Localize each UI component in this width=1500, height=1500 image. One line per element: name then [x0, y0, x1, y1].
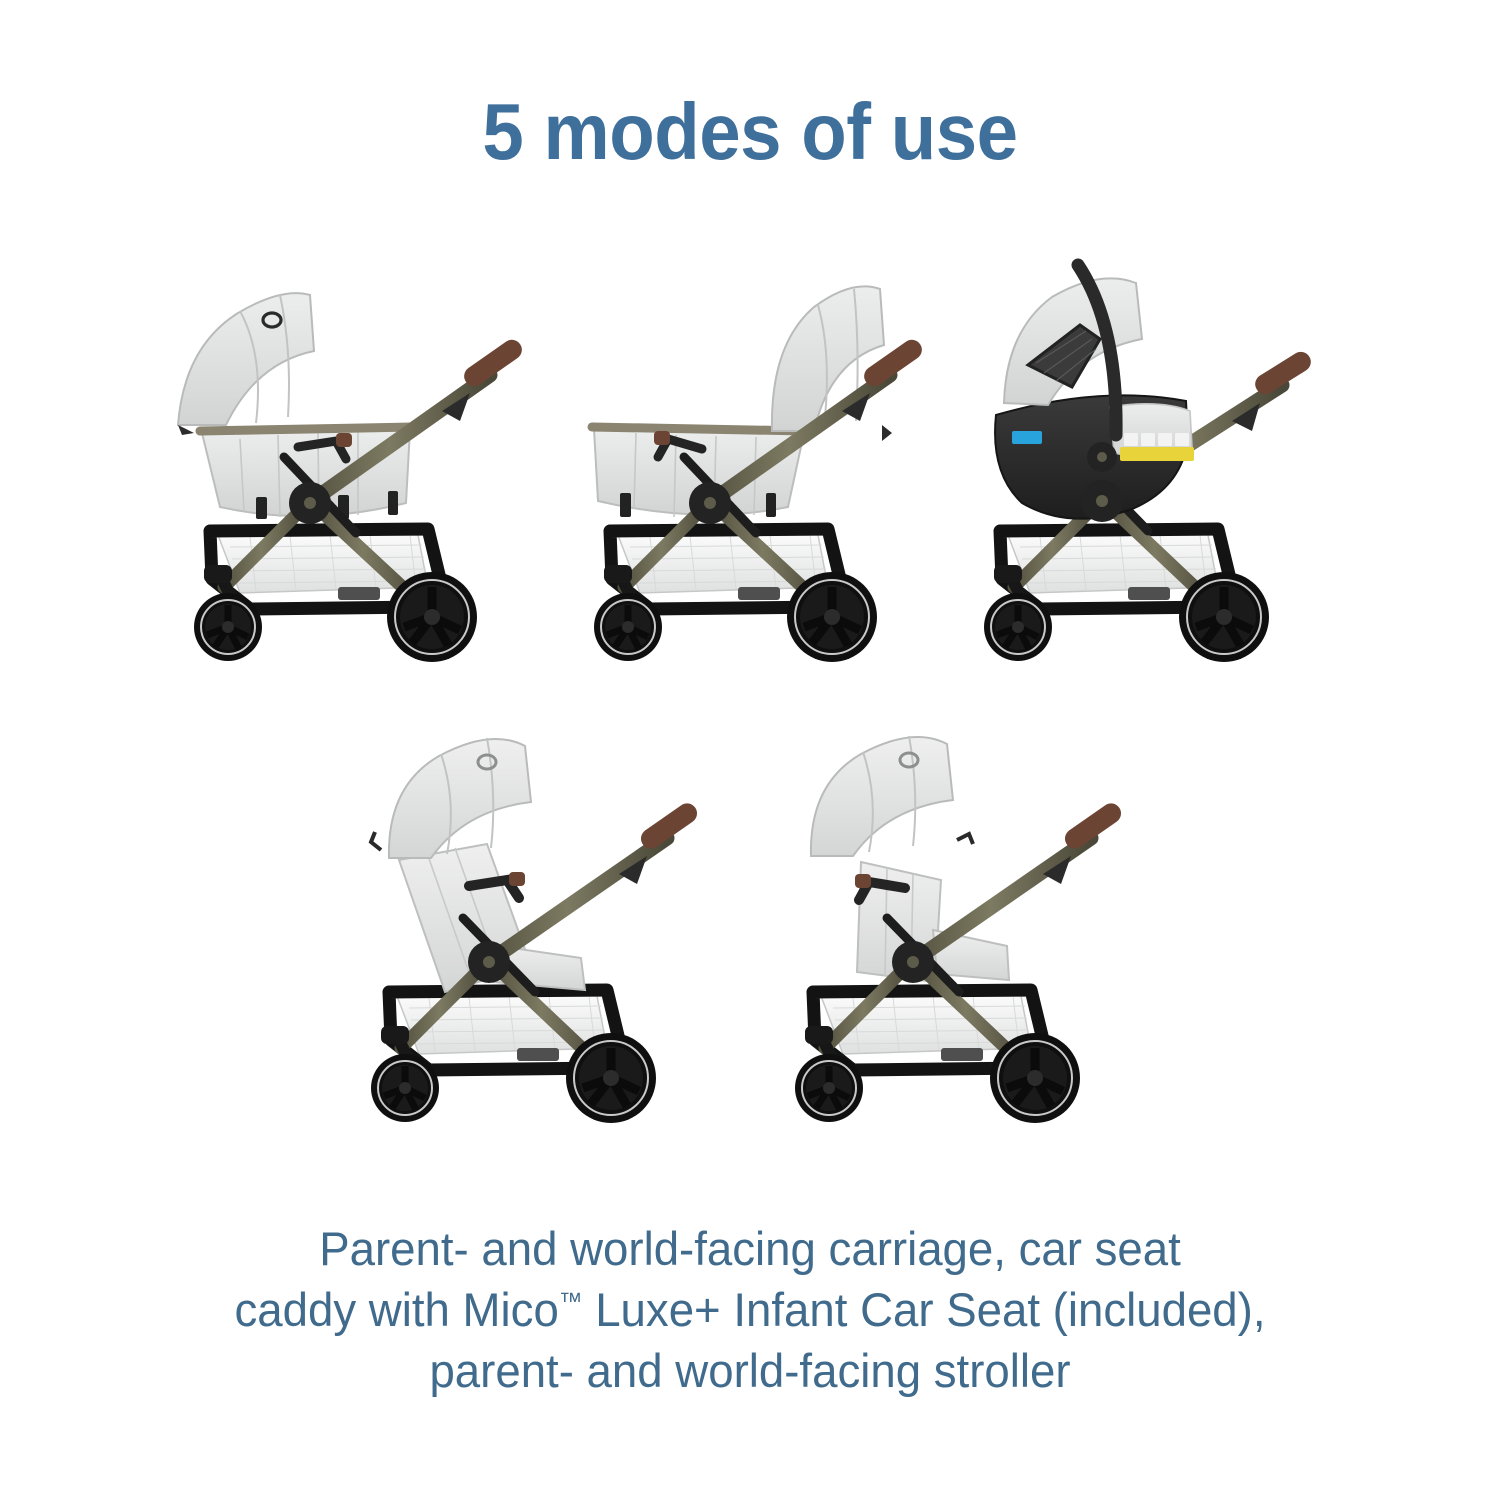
hood-clip: [178, 425, 194, 435]
canopy-strap: [371, 832, 381, 850]
product-image-world-facing-carriage: [560, 235, 960, 680]
basket-tag: [338, 587, 380, 600]
stroller-canopy: [389, 739, 531, 858]
hub-logo-icon: [1096, 495, 1108, 507]
rear-wheel: [566, 1033, 656, 1123]
caption-line-2: caddy with Mico™ Luxe+ Infant Car Seat (…: [23, 1279, 1478, 1340]
car-seat-yellow-label: [1120, 447, 1194, 461]
hub-logo-icon: [704, 497, 716, 509]
product-mode-gallery: [0, 235, 1500, 1175]
hood-clip: [882, 425, 892, 441]
trademark-symbol: ™: [559, 1288, 583, 1315]
bassinet-hood: [178, 293, 314, 425]
caption-line-3: parent- and world-facing stroller: [23, 1340, 1478, 1401]
adapter-logo-icon: [1097, 452, 1107, 462]
basket-tag: [517, 1048, 559, 1061]
caption-line-2-a: caddy with Mico: [234, 1283, 558, 1336]
basket-tag: [738, 587, 780, 600]
bassinet-hood: [772, 286, 884, 431]
hub-logo-icon: [483, 956, 495, 968]
adapter-grip: [654, 431, 670, 445]
stroller-seat-parent-facing-svg: [335, 690, 735, 1140]
caption-line-1: Parent- and world-facing carriage, car s…: [23, 1218, 1478, 1279]
gallery-row-bottom: [0, 690, 1500, 1145]
rear-wheel: [990, 1033, 1080, 1123]
infographic-page: 5 modes of use: [0, 0, 1500, 1500]
frame-handle-bar: [485, 838, 667, 964]
stroller-canopy: [811, 737, 953, 856]
rear-wheel: [1179, 572, 1269, 662]
product-image-parent-facing-carriage: [160, 235, 560, 680]
car-seat-blue-label: [1012, 431, 1042, 444]
product-image-world-facing-stroller: [765, 690, 1165, 1145]
caption-block: Parent- and world-facing carriage, car s…: [0, 1218, 1500, 1401]
bassinet-rim: [200, 427, 412, 431]
canopy-strap: [957, 834, 973, 844]
bumper-grip: [509, 872, 525, 886]
product-image-car-seat-caddy: [960, 235, 1340, 680]
bumper-grip: [855, 874, 871, 888]
stroller-car-seat-caddy-svg: [960, 235, 1340, 675]
gallery-row-top: [0, 235, 1500, 680]
product-image-parent-facing-stroller: [335, 690, 735, 1145]
page-title: 5 modes of use: [53, 92, 1448, 172]
caption-line-2-b: Luxe+ Infant Car Seat (included),: [583, 1283, 1266, 1336]
adapter-grip: [336, 433, 352, 447]
rear-wheel: [387, 572, 477, 662]
hub-logo-icon: [907, 956, 919, 968]
rear-wheel: [787, 572, 877, 662]
stroller-bassinet-world-facing-svg: [560, 235, 960, 675]
basket-tag: [1128, 587, 1170, 600]
stroller-bassinet-parent-facing-svg: [160, 235, 560, 675]
hub-logo-icon: [304, 497, 316, 509]
basket-tag: [941, 1048, 983, 1061]
stroller-seat-world-facing-svg: [765, 690, 1165, 1140]
